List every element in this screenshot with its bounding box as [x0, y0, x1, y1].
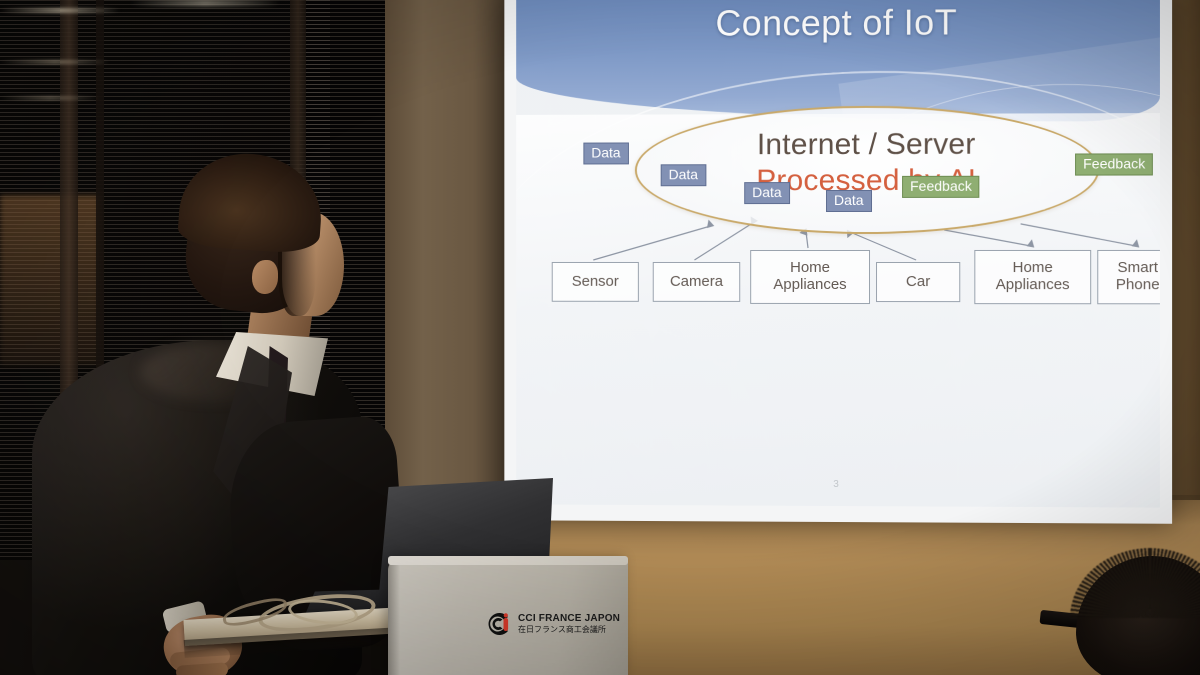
cci-logo-line-2: 在日フランス商工会議所 — [518, 626, 620, 634]
presenter-ear — [252, 260, 278, 294]
wall-pillar — [385, 0, 510, 560]
podium-left-edge-shading — [388, 560, 400, 675]
podium-top-rim — [388, 556, 628, 565]
cci-circle-mark-icon — [482, 609, 512, 639]
projection-screen: Concept of IoT — [504, 0, 1172, 524]
device-box-camera: Camera — [653, 262, 740, 302]
ceiling-light-glow-d — [130, 0, 280, 6]
screenshot-root: Concept of IoT — [0, 0, 1200, 675]
device-box-car: Car — [876, 262, 960, 302]
chip-data-home-appliances: Data — [744, 182, 789, 204]
device-box-home-appliances-right: Home Appliances — [974, 250, 1091, 304]
chip-data-sensor: Data — [583, 142, 628, 164]
device-box-sensor: Sensor — [552, 262, 639, 302]
ceiling-light-glow-b — [0, 60, 110, 64]
device-box-home-appliances-left: Home Appliances — [750, 250, 870, 304]
chip-data-car: Data — [826, 190, 872, 212]
ceiling-light-glow-a — [0, 8, 120, 13]
cci-france-japon-logo: CCI FRANCE JAPON 在日フランス商工会議所 — [482, 603, 612, 645]
cci-logo-text: CCI FRANCE JAPON 在日フランス商工会議所 — [518, 614, 620, 634]
device-box-smart-phone: Smart Phone — [1097, 250, 1160, 304]
presenter-hair — [177, 149, 325, 255]
chip-data-camera: Data — [661, 164, 706, 186]
chip-feedback-home-appliances: Feedback — [902, 176, 980, 199]
central-node-line-1: Internet / Server — [637, 127, 1097, 162]
chip-feedback-smart-phone: Feedback — [1075, 153, 1153, 176]
presentation-slide: Concept of IoT — [516, 0, 1160, 508]
cci-logo-line-1: CCI FRANCE JAPON — [518, 614, 620, 624]
ceiling-light-glow-c — [0, 96, 100, 100]
